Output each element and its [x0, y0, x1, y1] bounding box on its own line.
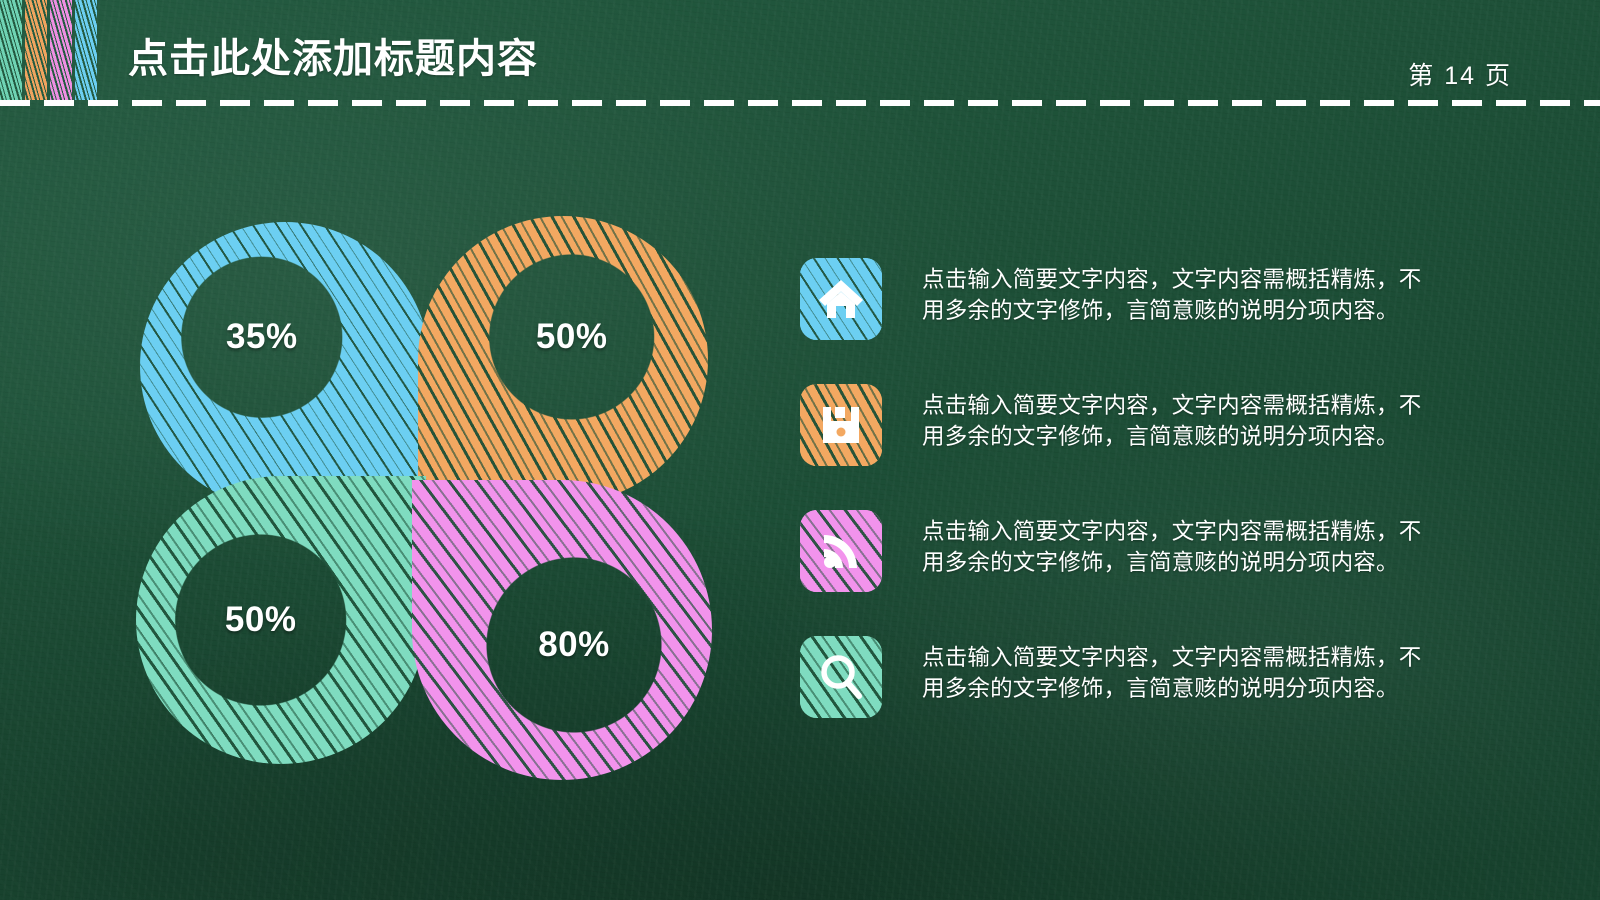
- donut-chart-1[interactable]: 35%: [140, 222, 430, 510]
- donut-value-1: 35%: [226, 317, 298, 357]
- list-item[interactable]: 点击输入简要文字内容，文字内容需概括精炼，不 用多余的文字修饰，言简意赅的说明分…: [800, 384, 1480, 468]
- page-number: 第 14 页: [1408, 56, 1512, 92]
- donut-value-2: 50%: [536, 317, 608, 357]
- header-stripe-pink: [50, 0, 72, 100]
- donut-chart-3[interactable]: 50%: [136, 476, 426, 764]
- list-item-text: 点击输入简要文字内容，文字内容需概括精炼，不 用多余的文字修饰，言简意赅的说明分…: [922, 264, 1467, 326]
- list-item-text: 点击输入简要文字内容，文字内容需概括精炼，不 用多余的文字修饰，言简意赅的说明分…: [922, 642, 1467, 704]
- donut-chart-4[interactable]: 80%: [412, 480, 712, 780]
- list-item[interactable]: 点击输入简要文字内容，文字内容需概括精炼，不 用多余的文字修饰，言简意赅的说明分…: [800, 258, 1480, 342]
- search-magnifier-icon-tile[interactable]: [800, 636, 882, 718]
- floppy-disk-save-icon: [819, 403, 863, 447]
- header-stripe-orange: [25, 0, 47, 100]
- list-item-line2: 用多余的文字修饰，言简意赅的说明分项内容。: [922, 673, 1467, 704]
- list-item-line1: 点击输入简要文字内容，文字内容需概括精炼，不: [922, 390, 1467, 421]
- list-item[interactable]: 点击输入简要文字内容，文字内容需概括精炼，不 用多余的文字修饰，言简意赅的说明分…: [800, 510, 1480, 594]
- home-icon-tile[interactable]: [800, 258, 882, 340]
- list-item-line2: 用多余的文字修饰，言简意赅的说明分项内容。: [922, 295, 1467, 326]
- donut-chart-2[interactable]: 50%: [418, 216, 708, 504]
- header-stripe-mint: [0, 0, 22, 100]
- header-stripe-decoration: [0, 0, 112, 100]
- list-item-line1: 点击输入简要文字内容，文字内容需概括精炼，不: [922, 264, 1467, 295]
- list-item-line2: 用多余的文字修饰，言简意赅的说明分项内容。: [922, 547, 1467, 578]
- list-item-line2: 用多余的文字修饰，言简意赅的说明分项内容。: [922, 421, 1467, 452]
- donut-ring-2: [418, 216, 708, 504]
- donut-value-4: 80%: [538, 625, 610, 665]
- list-item-text: 点击输入简要文字内容，文字内容需概括精炼，不 用多余的文字修饰，言简意赅的说明分…: [922, 516, 1467, 578]
- rss-signal-icon: [819, 529, 863, 573]
- home-icon: [818, 277, 864, 321]
- donut-ring-1: [140, 222, 430, 510]
- header-stripe-cyan: [75, 0, 97, 100]
- list-item-line1: 点击输入简要文字内容，文字内容需概括精炼，不: [922, 642, 1467, 673]
- slide-header: 点击此处添加标题内容 第 14 页: [0, 0, 1600, 112]
- donut-chart-group: 35% 50% 50% 80%: [140, 222, 730, 767]
- header-dashed-divider: [0, 100, 1600, 106]
- rss-signal-icon-tile[interactable]: [800, 510, 882, 592]
- search-magnifier-icon: [819, 654, 863, 700]
- list-item-text: 点击输入简要文字内容，文字内容需概括精炼，不 用多余的文字修饰，言简意赅的说明分…: [922, 390, 1467, 452]
- slide-title[interactable]: 点击此处添加标题内容: [128, 26, 538, 84]
- donut-value-3: 50%: [225, 600, 297, 640]
- list-item[interactable]: 点击输入简要文字内容，文字内容需概括精炼，不 用多余的文字修饰，言简意赅的说明分…: [800, 636, 1480, 720]
- floppy-disk-save-icon-tile[interactable]: [800, 384, 882, 466]
- list-item-line1: 点击输入简要文字内容，文字内容需概括精炼，不: [922, 516, 1467, 547]
